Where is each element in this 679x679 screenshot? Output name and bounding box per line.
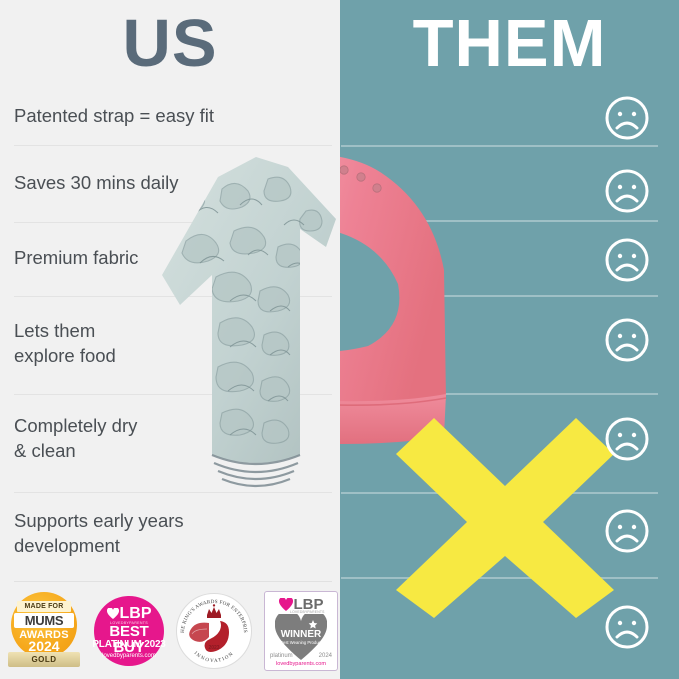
svg-text:INNOVATION: INNOVATION xyxy=(193,651,236,664)
sad-face-icon xyxy=(604,237,650,283)
crown-icon xyxy=(207,604,221,618)
badge-year: 2024 xyxy=(319,653,332,659)
feature-row: Patented strap = easy fit xyxy=(0,85,340,145)
badge-line2: Best Weaning Product xyxy=(264,640,338,646)
award-badge-strip: MADE FOR MUMS AWARDS 2024 GOLD LBP LOVED… xyxy=(0,582,340,679)
badge-ribbon-label: GOLD xyxy=(8,652,80,667)
sad-face-icon xyxy=(604,416,650,462)
badge-brand-row: LBP xyxy=(92,606,166,622)
feature-label: Saves 30 mins daily xyxy=(14,170,179,195)
kings-arc-bottom: INNOVATION xyxy=(193,651,236,664)
comparison-infographic: US Patented strap = easy fit Saves 30 mi… xyxy=(0,0,679,679)
badge-year: 2023 xyxy=(176,645,252,651)
sad-face-icon xyxy=(604,95,650,141)
kings-award-emblem: THE KING'S AWARDS FOR ENTERPRISE INNOVAT… xyxy=(176,593,252,669)
smock-product-image xyxy=(160,155,355,500)
badge-lbp-winner: LBP LOVEDBYPARENTS WINNER Best Weaning P… xyxy=(264,591,338,671)
badge-url: lovedbyparents.com xyxy=(264,661,338,667)
badge-lbp-best-buy: LBP LOVEDBYPARENTS BEST BUY PLATINUM 202… xyxy=(92,594,164,668)
sad-face-icon xyxy=(604,168,650,214)
badge-line2: PLATINUM 2023 xyxy=(92,639,166,651)
badge-made-for-mums: MADE FOR MUMS AWARDS 2024 GOLD xyxy=(8,592,80,670)
badge-brand: LBP xyxy=(120,605,152,622)
sad-face-icon xyxy=(604,317,650,363)
badge-line2: MUMS xyxy=(14,613,74,628)
feature-label: Supports early years development xyxy=(14,508,184,558)
them-heading: THEM xyxy=(340,6,679,82)
cross-mark-icon xyxy=(396,418,614,618)
heart-icon xyxy=(107,608,119,619)
badge-tier: platinum xyxy=(270,653,293,659)
feature-label: Lets them explore food xyxy=(14,318,116,368)
us-heading: US xyxy=(0,6,340,82)
badge-line1: MADE FOR xyxy=(17,601,71,612)
row-divider xyxy=(341,145,658,147)
badge-url: lovedbyparents.com xyxy=(92,652,166,660)
sad-face-icon xyxy=(604,604,650,650)
feature-label: Patented strap = easy fit xyxy=(14,103,214,128)
feature-label: Completely dry & clean xyxy=(14,413,137,463)
badge-kings-awards: THE KING'S AWARDS FOR ENTERPRISE INNOVAT… xyxy=(176,593,252,669)
feature-label: Premium fabric xyxy=(14,245,138,270)
badge-line1: WINNER xyxy=(264,629,338,640)
row-divider xyxy=(14,145,332,146)
sad-face-icon xyxy=(604,508,650,554)
